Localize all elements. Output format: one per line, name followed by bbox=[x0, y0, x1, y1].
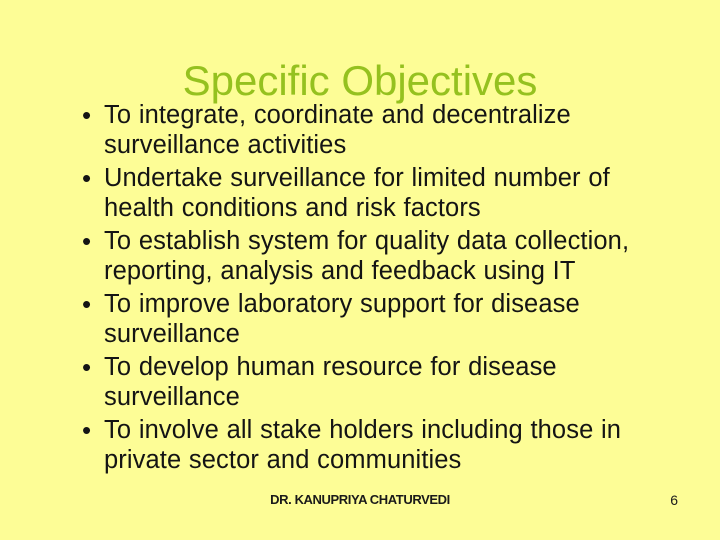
list-item: • To improve laboratory support for dise… bbox=[78, 289, 658, 349]
list-item: • To establish system for quality data c… bbox=[78, 226, 658, 286]
list-item-label: To involve all stake holders including t… bbox=[104, 415, 658, 475]
list-item-label: To integrate, coordinate and decentraliz… bbox=[104, 100, 658, 160]
list-item-label: To develop human resource for disease su… bbox=[104, 352, 658, 412]
bullet-point-icon: • bbox=[78, 352, 104, 382]
bullet-point-icon: • bbox=[78, 415, 104, 445]
list-item: • To integrate, coordinate and decentral… bbox=[78, 100, 658, 160]
list-item-label: To establish system for quality data col… bbox=[104, 226, 658, 286]
footer-author: DR. KANUPRIYA CHATURVEDI bbox=[0, 492, 720, 508]
list-item-label: Undertake surveillance for limited numbe… bbox=[104, 163, 658, 223]
list-item: • To involve all stake holders including… bbox=[78, 415, 658, 475]
bullet-point-icon: • bbox=[78, 226, 104, 256]
list-item: • Undertake surveillance for limited num… bbox=[78, 163, 658, 223]
page-title: Specific Objectives bbox=[0, 56, 720, 106]
bullet-list: • To integrate, coordinate and decentral… bbox=[78, 100, 658, 478]
bullet-point-icon: • bbox=[78, 163, 104, 193]
list-item-label: To improve laboratory support for diseas… bbox=[104, 289, 658, 349]
presentation-slide: Specific Objectives • To integrate, coor… bbox=[0, 0, 720, 540]
bullet-point-icon: • bbox=[78, 289, 104, 319]
slide-number: 6 bbox=[670, 492, 678, 508]
list-item: • To develop human resource for disease … bbox=[78, 352, 658, 412]
bullet-point-icon: • bbox=[78, 100, 104, 130]
